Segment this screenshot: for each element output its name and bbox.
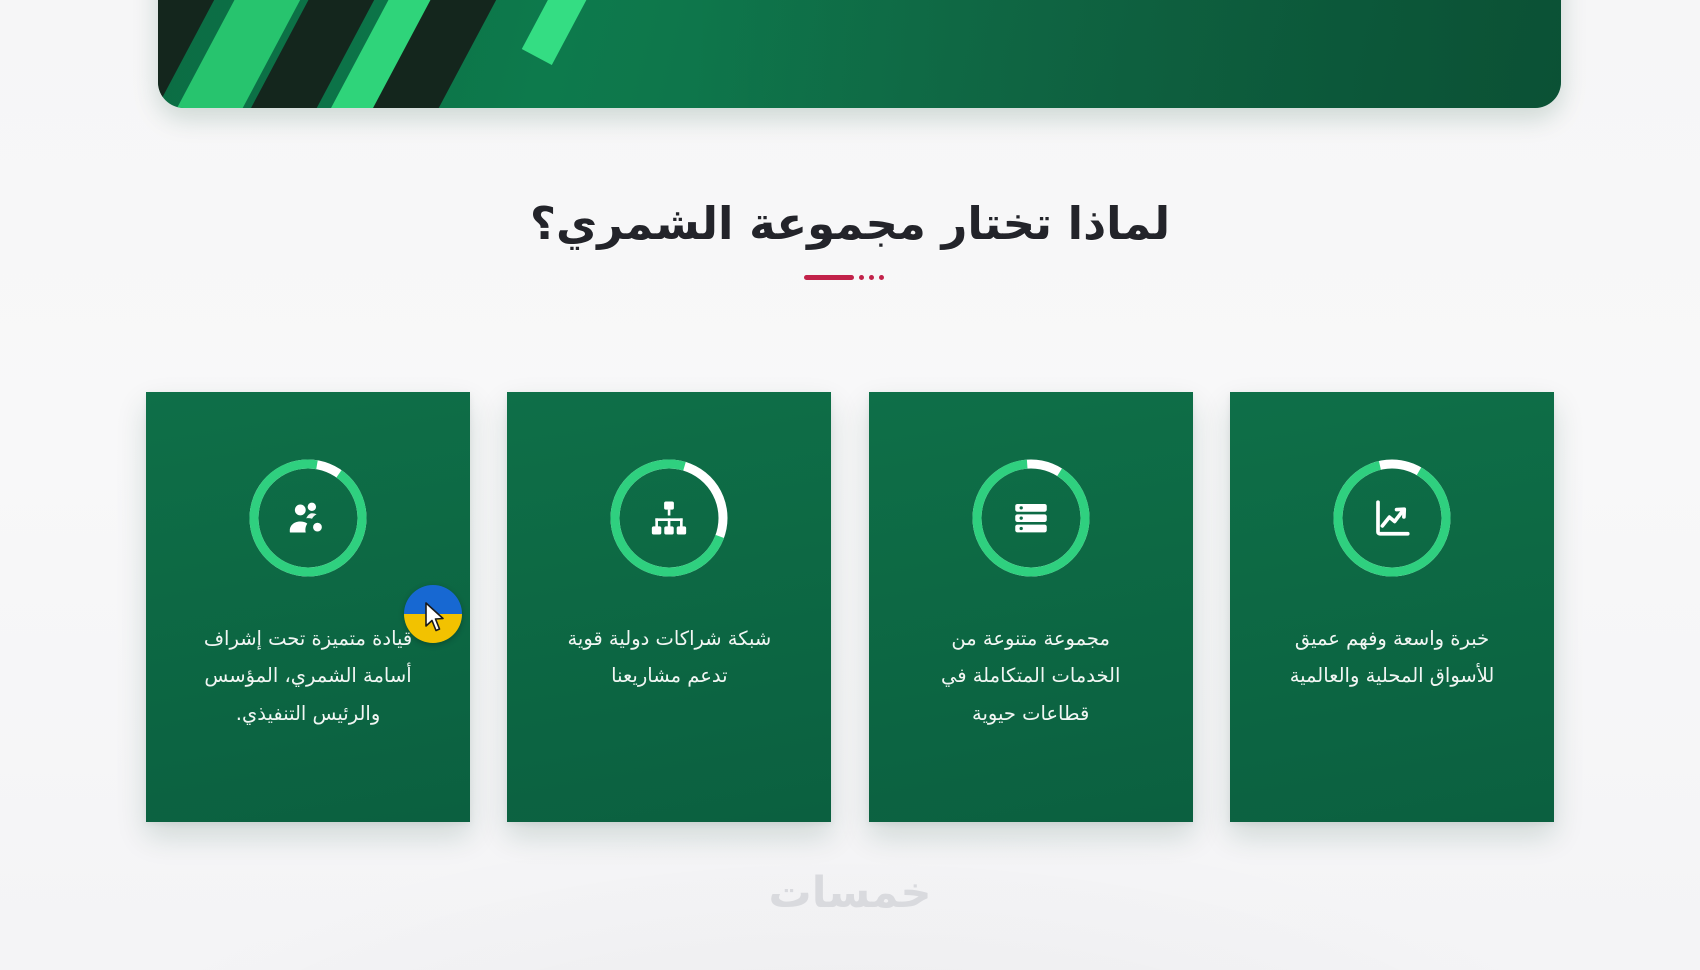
arrow-up-right-icon: [473, 0, 701, 108]
users-gear-icon: [244, 454, 372, 582]
feature-card-text: شبكة شراكات دولية قوية تدعم مشاريعنا: [567, 620, 771, 695]
feature-card-line: والرئيس التنفيذي.: [204, 695, 412, 732]
underline-bar: [804, 275, 854, 280]
feature-card[interactable]: مجموعة متنوعة من الخدمات المتكاملة في قط…: [869, 392, 1193, 822]
cursor-highlight-badge: [404, 585, 462, 643]
feature-card-text: قيادة متميزة تحت إشراف أسامة الشمري، الم…: [204, 620, 412, 732]
feature-card-text: خبرة واسعة وفهم عميق للأسواق المحلية وال…: [1290, 620, 1495, 695]
section-header: لماذا تختار مجموعة الشمري؟: [0, 196, 1700, 280]
chart-line-up-icon: [1328, 454, 1456, 582]
hero-gradient-overlay: [691, 0, 1561, 108]
arrow-shaft: [522, 0, 662, 65]
progress-ring: [605, 454, 733, 582]
progress-ring: [1328, 454, 1456, 582]
page-title: لماذا تختار مجموعة الشمري؟: [0, 196, 1700, 252]
badge-top-half: [404, 585, 462, 614]
feature-card-text: مجموعة متنوعة من الخدمات المتكاملة في قط…: [941, 620, 1120, 732]
feature-card-line: مجموعة متنوعة من: [941, 620, 1120, 657]
feature-card-line: تدعم مشاريعنا: [567, 657, 771, 694]
title-underline-decoration: [804, 274, 896, 280]
underline-dot: [879, 275, 884, 280]
feature-card-line: أسامة الشمري، المؤسس: [204, 657, 412, 694]
feature-card-line: قطاعات حيوية: [941, 695, 1120, 732]
feature-card-line: شبكة شراكات دولية قوية: [567, 620, 771, 657]
watermark-text: خمسات: [0, 868, 1700, 918]
underline-dot: [859, 275, 864, 280]
badge-bottom-half: [404, 614, 462, 643]
hero-banner: [158, 0, 1561, 108]
sitemap-network-icon: [605, 454, 733, 582]
feature-card-line: خبرة واسعة وفهم عميق: [1290, 620, 1495, 657]
feature-card-line: قيادة متميزة تحت إشراف: [204, 620, 412, 657]
progress-ring: [967, 454, 1095, 582]
feature-card-line: الخدمات المتكاملة في: [941, 657, 1120, 694]
server-stack-icon: [967, 454, 1095, 582]
feature-cards-row: خبرة واسعة وفهم عميق للأسواق المحلية وال…: [146, 392, 1554, 822]
feature-card[interactable]: شبكة شراكات دولية قوية تدعم مشاريعنا: [507, 392, 831, 822]
underline-dot: [869, 275, 874, 280]
feature-card[interactable]: خبرة واسعة وفهم عميق للأسواق المحلية وال…: [1230, 392, 1554, 822]
feature-card-line: للأسواق المحلية والعالمية: [1290, 657, 1495, 694]
progress-ring: [244, 454, 372, 582]
